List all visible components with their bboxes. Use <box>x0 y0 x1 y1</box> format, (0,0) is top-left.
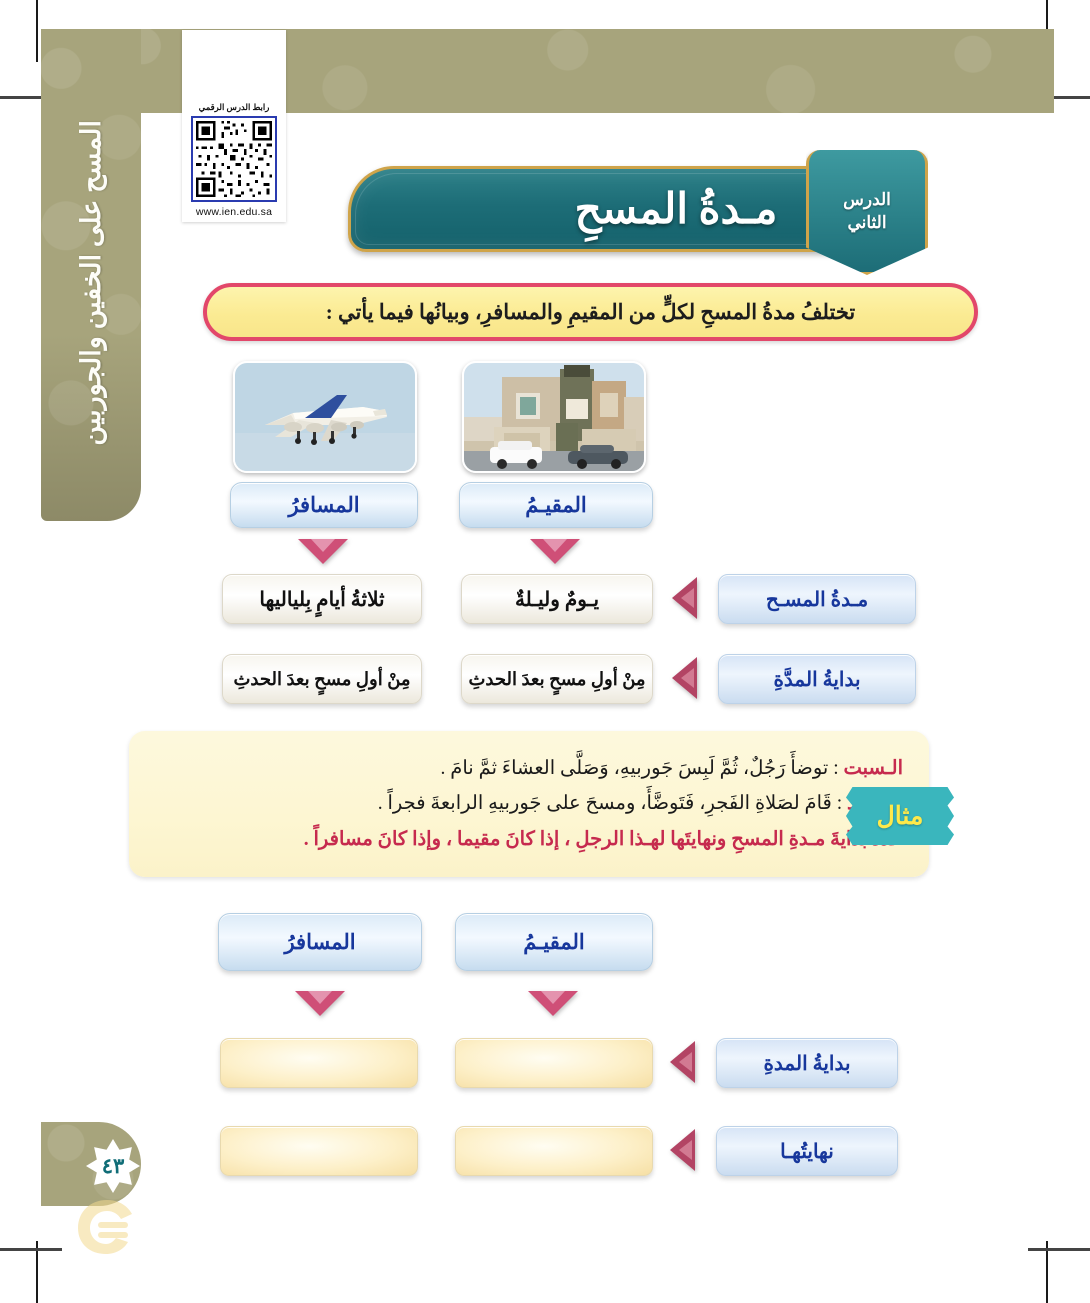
cell-start-traveler-text: مِنْ أولِ مسحٍ بعدَ الحدثِ <box>233 669 410 690</box>
qr-url[interactable]: www.ien.edu.sa <box>196 206 272 218</box>
row-label-start-bottom: بدايةُ المدةِ <box>716 1038 898 1088</box>
airplane-photo <box>233 361 417 473</box>
example-badge-label: مثال <box>877 801 924 831</box>
arrow-left-start <box>672 657 697 699</box>
sidebar-olive-tab <box>41 29 141 521</box>
cell-start-resident-text: مِنْ أولِ مسحٍ بعدَ الحدثِ <box>468 669 645 690</box>
cell-duration-traveler: ثلاثةُ أيامٍ بِلياليها <box>222 574 422 624</box>
lesson-ribbon-line1: الدرس <box>843 189 891 210</box>
answer-box-start-resident[interactable] <box>455 1038 653 1088</box>
example-line-2: الأحـــد : قَامَ لصَلاةِ الفَجرِ، فَتَوض… <box>237 790 903 818</box>
row-label-start-bottom-text: بدايةُ المدةِ <box>763 1051 850 1076</box>
arrow-down-traveler-bottom <box>295 991 345 1016</box>
ien-logo-icon <box>72 1196 142 1258</box>
column-header-traveler-top: المسافرُ <box>230 482 418 528</box>
row-label-start-text: بدايةُ المدَّةِ <box>773 667 860 692</box>
row-label-end-bottom-text: نهايتُهـا <box>780 1139 834 1164</box>
crop-mark-bottom-right-h <box>1028 1248 1090 1251</box>
lesson-ribbon-line2: الثاني <box>847 212 886 233</box>
digital-lesson-qr-card[interactable]: رابط الدرس الرقمي <box>182 30 286 222</box>
arrow-down-resident-bottom <box>528 991 578 1016</box>
example-question: حدِّدْ بدايةَ مـدةِ المسحِ ونهايتَها لهـ… <box>237 826 903 853</box>
example-text-2: : قَامَ لصَلاةِ الفَجرِ، فَتَوضَّأَ، ومس… <box>378 793 842 814</box>
cell-start-traveler: مِنْ أولِ مسحٍ بعدَ الحدثِ <box>222 654 422 704</box>
cell-start-resident: مِنْ أولِ مسحٍ بعدَ الحدثِ <box>461 654 653 704</box>
answer-box-end-traveler[interactable] <box>220 1126 418 1176</box>
arrow-left-start-bottom <box>670 1041 695 1083</box>
answer-box-end-resident[interactable] <box>455 1126 653 1176</box>
example-text-1: : توضأَ رَجُلٌ، ثُمَّ لَبِسَ جَوربيهِ، و… <box>441 758 839 779</box>
column-header-resident-bottom: المقيـمُ <box>455 913 653 971</box>
intro-banner: تختلفُ مدةُ المسحِ لكلٍّ من المقيمِ والم… <box>203 283 978 341</box>
cell-duration-traveler-text: ثلاثةُ أيامٍ بِلياليها <box>259 587 384 612</box>
cell-duration-resident: يـومٌ وليـلةٌ <box>461 574 653 624</box>
column-header-resident-top: المقيـمُ <box>459 482 653 528</box>
arrow-left-duration <box>672 577 697 619</box>
answer-box-start-traveler[interactable] <box>220 1038 418 1088</box>
column-header-traveler-bottom-label: المسافرُ <box>284 930 355 955</box>
row-label-duration: مـدةُ المسـح <box>718 574 916 624</box>
arrow-down-traveler-top <box>298 539 348 564</box>
crop-mark-bottom-left-h <box>0 1248 62 1251</box>
qr-label: رابط الدرس الرقمي <box>199 102 270 113</box>
row-label-start: بدايةُ المدَّةِ <box>718 654 916 704</box>
example-day-1: الـسبت <box>844 758 904 779</box>
column-header-resident-top-label: المقيـمُ <box>525 493 586 518</box>
house-photo <box>462 361 646 473</box>
example-box: الـسبت : توضأَ رَجُلٌ، ثُمَّ لَبِسَ جَور… <box>129 731 929 877</box>
textbook-page: المسح على الخفين والجوربين رابط الدرس ال… <box>0 0 1090 1303</box>
intro-text: تختلفُ مدةُ المسحِ لكلٍّ من المقيمِ والم… <box>326 300 856 325</box>
arrow-left-end-bottom <box>670 1129 695 1171</box>
row-label-duration-text: مـدةُ المسـح <box>766 587 868 612</box>
qr-code-icon[interactable] <box>191 116 277 202</box>
row-label-end-bottom: نهايتُهـا <box>716 1126 898 1176</box>
column-header-traveler-top-label: المسافرُ <box>288 493 359 518</box>
page-number: ٤٣ <box>102 1154 125 1179</box>
arrow-down-resident-top <box>530 539 580 564</box>
column-header-traveler-bottom: المسافرُ <box>218 913 422 971</box>
column-header-resident-bottom-label: المقيـمُ <box>523 930 584 955</box>
example-line-1: الـسبت : توضأَ رَجُلٌ، ثُمَّ لَبِسَ جَور… <box>237 755 903 783</box>
example-badge: مثال <box>846 787 954 845</box>
cell-duration-resident-text: يـومٌ وليـلةٌ <box>515 587 599 612</box>
lesson-number-ribbon: الدرس الثاني <box>806 150 928 275</box>
crop-mark-top-left-v <box>36 0 38 62</box>
